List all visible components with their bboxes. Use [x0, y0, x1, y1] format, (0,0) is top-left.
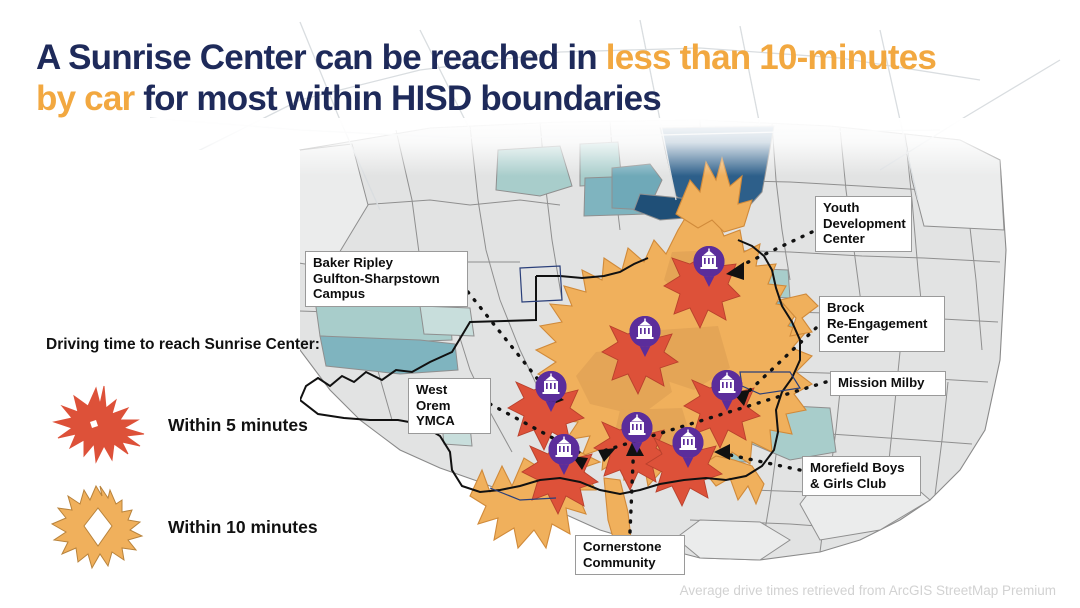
legend-item-5min: Within 5 minutes — [46, 382, 376, 468]
building-windows — [632, 424, 642, 430]
teal-region-7 — [420, 306, 474, 336]
legend-shape-5min — [54, 386, 144, 462]
building-windows — [704, 258, 714, 264]
legend-swatch-5min — [46, 382, 154, 468]
building-windows — [559, 446, 569, 452]
title-part-navy-1: A Sunrise Center can be reached in — [36, 38, 606, 77]
callout-baker-ripley: Baker Ripley Gulfton-Sharpstown Campus — [305, 251, 468, 307]
footer-source-note: Average drive times retrieved from ArcGI… — [680, 583, 1056, 598]
callout-mission-milby: Mission Milby — [830, 371, 946, 396]
legend-heading: Driving time to reach Sunrise Center: — [46, 336, 376, 354]
title-part-gold-2: by car — [36, 79, 134, 118]
title-line-1: A Sunrise Center can be reached in less … — [36, 38, 1046, 79]
callout-brock: Brock Re-Engagement Center — [819, 296, 945, 352]
title-line-2: by car for most within HISD boundaries — [36, 79, 1046, 120]
building-windows — [640, 328, 650, 334]
page-title: A Sunrise Center can be reached in less … — [36, 38, 1046, 119]
legend-item-10min: Within 10 minutes — [46, 484, 376, 570]
slide-canvas: A Sunrise Center can be reached in less … — [0, 0, 1080, 608]
legend-label-5min: Within 5 minutes — [168, 415, 308, 436]
building-windows — [683, 439, 693, 445]
callout-morefield: Morefield Boys & Girls Club — [802, 456, 921, 496]
building-windows — [722, 382, 732, 388]
callout-youth-dev: Youth Development Center — [815, 196, 912, 252]
legend-swatch-10min — [46, 484, 154, 570]
callout-cornerstone: Cornerstone Community — [575, 535, 685, 575]
title-part-gold-1: less than 10-minutes — [606, 38, 936, 77]
map-legend: Driving time to reach Sunrise Center: Wi… — [46, 336, 376, 586]
callout-west-orem: West Orem YMCA — [408, 378, 491, 434]
legend-label-10min: Within 10 minutes — [168, 517, 318, 538]
building-windows — [546, 383, 556, 389]
title-part-navy-2: for most within HISD boundaries — [134, 79, 661, 118]
legend-shape-10min — [52, 486, 142, 568]
teal-region-1 — [496, 146, 572, 196]
